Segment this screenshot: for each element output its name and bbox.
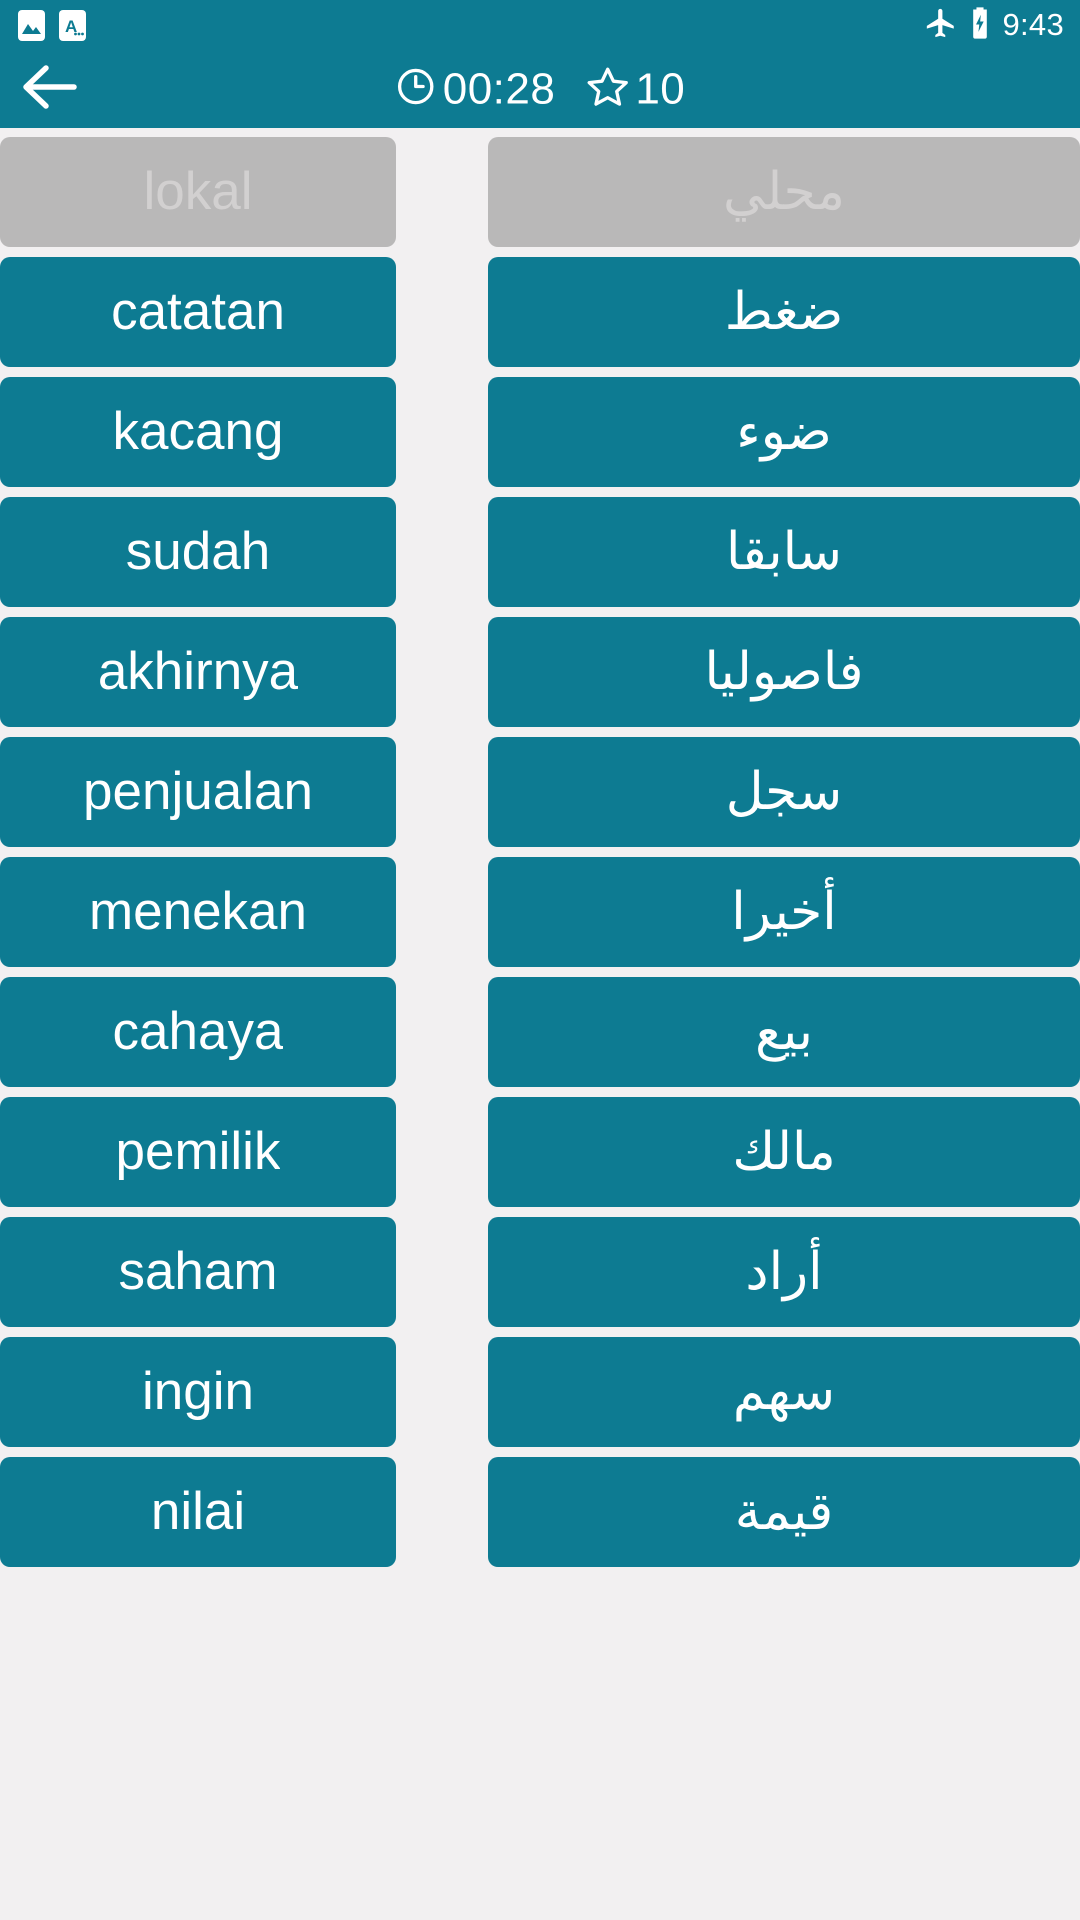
word-card[interactable]: أراد xyxy=(488,1217,1080,1327)
word-card-label: kacang xyxy=(113,403,284,461)
word-card-label: فاصوليا xyxy=(704,636,863,708)
word-card[interactable]: kacang xyxy=(0,377,396,487)
back-button[interactable] xyxy=(14,53,86,125)
word-card: lokal xyxy=(0,137,396,247)
translate-notification-icon: A xyxy=(59,10,86,41)
timer-value: 00:28 xyxy=(443,67,556,111)
source-word-column: lokalcatatankacangsudahakhirnyapenjualan… xyxy=(0,137,396,1567)
word-card-label: أراد xyxy=(745,1236,822,1308)
app-bar-stats: 00:28 10 xyxy=(395,65,686,114)
word-card[interactable]: menekan xyxy=(0,857,396,967)
word-card-label: ضغط xyxy=(725,276,844,348)
word-card-label: قيمة xyxy=(735,1476,834,1548)
word-card[interactable]: cahaya xyxy=(0,977,396,1087)
word-card-label: مالك xyxy=(732,1116,835,1188)
word-card-label: akhirnya xyxy=(98,643,298,701)
timer-stat: 00:28 xyxy=(395,66,556,113)
word-card-label: محلي xyxy=(723,156,845,228)
word-card-label: سابقا xyxy=(726,516,842,588)
word-card-label: catatan xyxy=(111,283,285,341)
word-card[interactable]: pemilik xyxy=(0,1097,396,1207)
airplane-icon xyxy=(924,6,958,45)
word-card-label: sudah xyxy=(126,523,270,581)
word-card-label: سجل xyxy=(726,756,843,828)
word-card[interactable]: فاصوليا xyxy=(488,617,1080,727)
word-card[interactable]: ingin xyxy=(0,1337,396,1447)
word-card-label: ingin xyxy=(142,1363,254,1421)
word-card[interactable]: ضوء xyxy=(488,377,1080,487)
word-card[interactable]: بيع xyxy=(488,977,1080,1087)
word-card[interactable]: قيمة xyxy=(488,1457,1080,1567)
word-card[interactable]: penjualan xyxy=(0,737,396,847)
word-match-board: lokalcatatankacangsudahakhirnyapenjualan… xyxy=(0,128,1080,1920)
word-card-label: cahaya xyxy=(113,1003,284,1061)
word-card-label: أخيرا xyxy=(731,876,836,948)
score-stat: 10 xyxy=(585,65,685,114)
word-card[interactable]: سابقا xyxy=(488,497,1080,607)
word-card[interactable]: sudah xyxy=(0,497,396,607)
back-arrow-icon xyxy=(20,62,80,117)
word-card-label: nilai xyxy=(151,1483,245,1541)
word-card-label: lokal xyxy=(143,163,252,221)
image-notification-icon xyxy=(18,10,45,41)
word-card-label: penjualan xyxy=(83,763,313,821)
app-bar: 00:28 10 xyxy=(0,50,1080,128)
app-root: A 9:43 xyxy=(0,0,1080,1920)
word-card-label: سهم xyxy=(733,1356,835,1428)
status-bar-time: 9:43 xyxy=(1002,9,1064,42)
word-card[interactable]: مالك xyxy=(488,1097,1080,1207)
word-card[interactable]: سجل xyxy=(488,737,1080,847)
word-card-label: بيع xyxy=(755,996,813,1068)
word-card: محلي xyxy=(488,137,1080,247)
battery-charging-icon xyxy=(970,6,990,45)
status-bar: A 9:43 xyxy=(0,0,1080,50)
word-card[interactable]: ضغط xyxy=(488,257,1080,367)
word-card[interactable]: سهم xyxy=(488,1337,1080,1447)
clock-icon xyxy=(395,66,437,113)
word-card[interactable]: nilai xyxy=(0,1457,396,1567)
word-card-label: ضوء xyxy=(736,396,831,468)
word-card[interactable]: أخيرا xyxy=(488,857,1080,967)
word-card-label: menekan xyxy=(89,883,307,941)
word-card[interactable]: saham xyxy=(0,1217,396,1327)
word-card-label: saham xyxy=(118,1243,277,1301)
word-card[interactable]: akhirnya xyxy=(0,617,396,727)
status-bar-notifications: A xyxy=(18,10,86,41)
word-card-label: pemilik xyxy=(116,1123,281,1181)
target-word-column: محليضغطضوءسابقافاصولياسجلأخيرابيعمالكأرا… xyxy=(488,137,1080,1567)
star-icon xyxy=(585,65,629,114)
status-bar-system: 9:43 xyxy=(924,6,1064,45)
score-value: 10 xyxy=(635,67,685,111)
word-card[interactable]: catatan xyxy=(0,257,396,367)
